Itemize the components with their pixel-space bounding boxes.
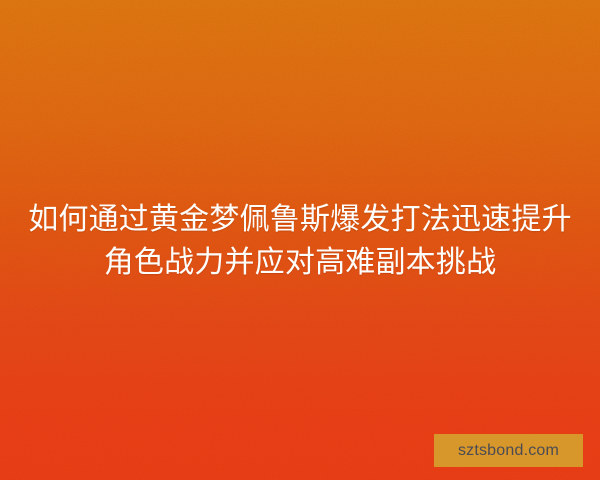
page-title: 如何通过黄金梦佩鲁斯爆发打法迅速提升 角色战力并应对高难副本挑战: [0, 198, 600, 284]
poster-canvas: 如何通过黄金梦佩鲁斯爆发打法迅速提升 角色战力并应对高难副本挑战 sztsbon…: [0, 0, 600, 480]
watermark-badge: sztsbond.com: [434, 434, 583, 467]
watermark-label: sztsbond.com: [458, 443, 559, 459]
title-line-1: 如何通过黄金梦佩鲁斯爆发打法迅速提升: [8, 198, 592, 241]
title-line-2: 角色战力并应对高难副本挑战: [8, 241, 592, 284]
